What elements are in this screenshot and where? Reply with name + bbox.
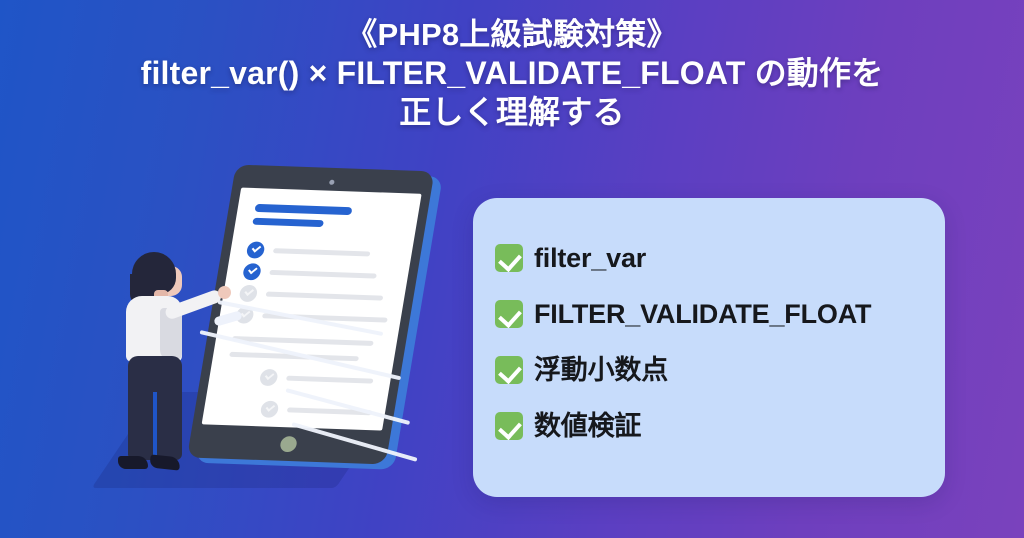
checklist-item: FILTER_VALIDATE_FLOAT	[495, 294, 945, 334]
hair	[132, 252, 176, 294]
title-line-1: 《PHP8上級試験対策》	[0, 16, 1024, 54]
tablet-camera-icon	[329, 180, 335, 185]
check-box-icon	[495, 300, 523, 328]
screen-text-line	[266, 292, 384, 301]
woman-standing-icon	[110, 252, 218, 482]
checklist-card: filter_var FILTER_VALIDATE_FLOAT 浮動小数点 数…	[473, 198, 945, 497]
screen-title-bar	[254, 204, 352, 215]
screen-text-line	[273, 248, 371, 256]
hand	[218, 286, 231, 299]
checklist-item-label: filter_var	[534, 245, 646, 272]
check-circle-icon	[242, 263, 262, 280]
checklist-item-label: 浮動小数点	[534, 357, 668, 384]
checklist-item-label: 数値検証	[534, 413, 641, 440]
leg-split	[153, 392, 157, 462]
slide-canvas: 《PHP8上級試験対策》 filter_var() × FILTER_VALID…	[0, 0, 1024, 538]
title-line-2: filter_var() × FILTER_VALIDATE_FLOAT の動作…	[0, 54, 1024, 93]
check-box-icon	[495, 244, 523, 272]
check-circle-icon	[259, 369, 279, 386]
checklist-item: 浮動小数点	[495, 350, 945, 390]
check-box-icon	[495, 356, 523, 384]
check-box-icon	[495, 412, 523, 440]
illustration	[96, 160, 446, 510]
checklist-item-label: FILTER_VALIDATE_FLOAT	[534, 301, 871, 328]
check-circle-icon	[238, 285, 258, 302]
check-circle-icon	[260, 401, 280, 418]
screen-subtitle-bar	[252, 218, 324, 227]
screen-text-line	[269, 270, 377, 279]
page-title: 《PHP8上級試験対策》 filter_var() × FILTER_VALID…	[0, 16, 1024, 132]
screen-text-line	[286, 376, 374, 384]
title-line-3: 正しく理解する	[0, 93, 1024, 132]
tablet-home-button-icon	[279, 436, 298, 452]
checklist-item: 数値検証	[495, 406, 945, 446]
shoe-left	[118, 456, 148, 469]
checklist-item: filter_var	[495, 238, 945, 278]
check-circle-icon	[246, 241, 266, 258]
